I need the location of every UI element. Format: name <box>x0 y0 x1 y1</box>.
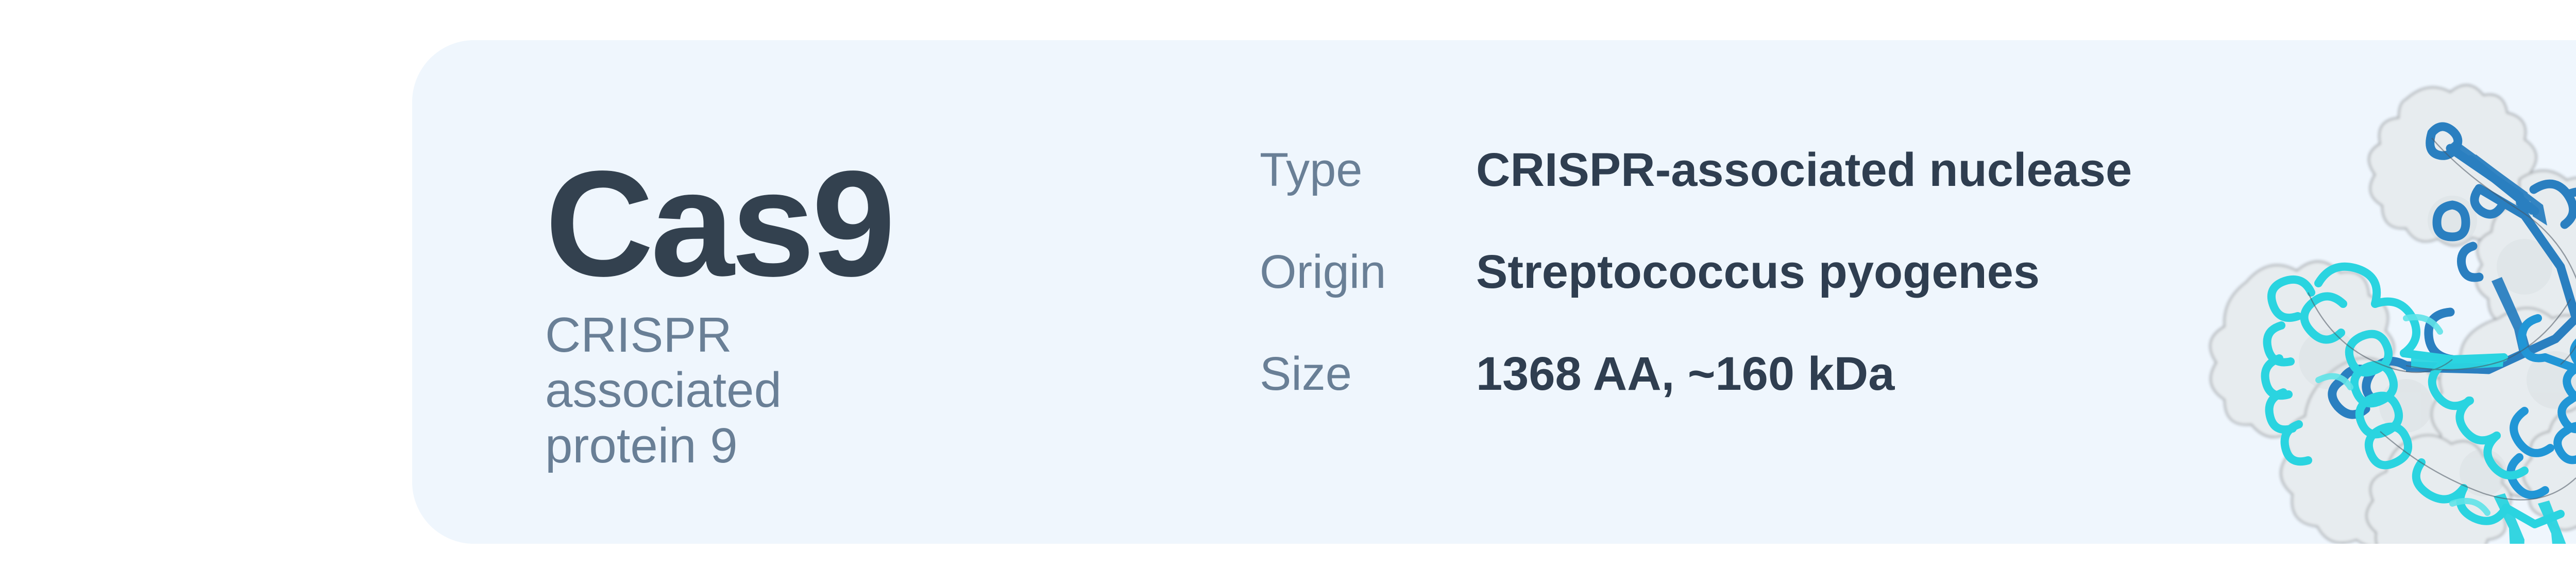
protein-summary-card: Cas9 CRISPR associated protein 9 Type CR… <box>412 40 2576 544</box>
protein-ribbon-structure-icon <box>2164 50 2576 544</box>
spec-label-type: Type <box>1260 143 1476 197</box>
spec-label-size: Size <box>1260 347 1476 401</box>
spec-value-size: 1368 AA, ~160 kDa <box>1476 347 1894 401</box>
spec-value-type: CRISPR-associated nuclease <box>1476 143 2132 197</box>
spec-label-origin: Origin <box>1260 245 1476 299</box>
protein-identity-block: Cas9 CRISPR associated protein 9 <box>545 154 1101 473</box>
spec-value-origin: Streptococcus pyogenes <box>1476 245 2040 299</box>
protein-full-name: CRISPR associated protein 9 <box>545 307 906 474</box>
protein-name: Cas9 <box>545 154 1101 293</box>
protein-structure-viewport[interactable] <box>2164 50 2576 544</box>
